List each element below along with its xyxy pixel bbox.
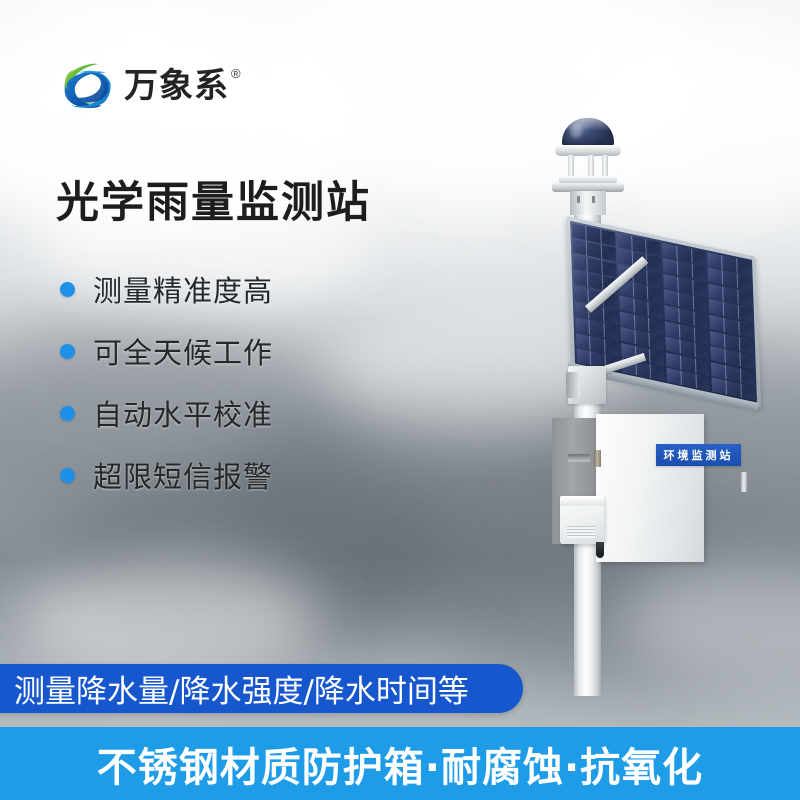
feature-label: 自动水平校准 [93,392,273,434]
cloud-dark [230,390,690,600]
product-poster: 环境监测站 [0,0,800,800]
globe-swoosh-logo-icon [58,58,114,114]
bullet-dot-icon [60,282,75,297]
bullet-dot-icon [60,468,75,483]
cloud-light [620,560,800,680]
brand-name-wrap: 万象系 ® [124,69,241,103]
registered-trademark-icon: ® [231,67,241,80]
brand-name: 万象系 [124,69,229,103]
feature-label: 测量精准度高 [93,268,273,310]
cloud-dark [540,350,800,560]
cloud-light [560,30,800,220]
bullet-dot-icon [60,344,75,359]
cloud-light [20,560,320,680]
feature-label: 超限短信报警 [93,454,273,496]
brand-logo: 万象系 ® [58,58,241,114]
bullet-dot-icon [60,406,75,421]
highlight-banner: 测量降水量/降水强度/降水时间等 [0,664,523,713]
feature-item: 测量精准度高 [60,258,273,320]
feature-item: 自动水平校准 [60,382,273,444]
feature-label: 可全天候工作 [93,330,273,372]
feature-item: 可全天候工作 [60,320,273,382]
highlight-banner-text: 测量降水量/降水强度/降水时间等 [14,666,469,711]
feature-list: 测量精准度高 可全天候工作 自动水平校准 超限短信报警 [60,258,273,506]
feature-item: 超限短信报警 [60,444,273,506]
bottom-banner-text: 不锈钢材质防护箱·耐腐蚀·抗氧化 [97,735,703,793]
page-title: 光学雨量监测站 [56,168,371,230]
bottom-banner: 不锈钢材质防护箱·耐腐蚀·抗氧化 [0,727,800,800]
cloud-light [330,300,630,430]
